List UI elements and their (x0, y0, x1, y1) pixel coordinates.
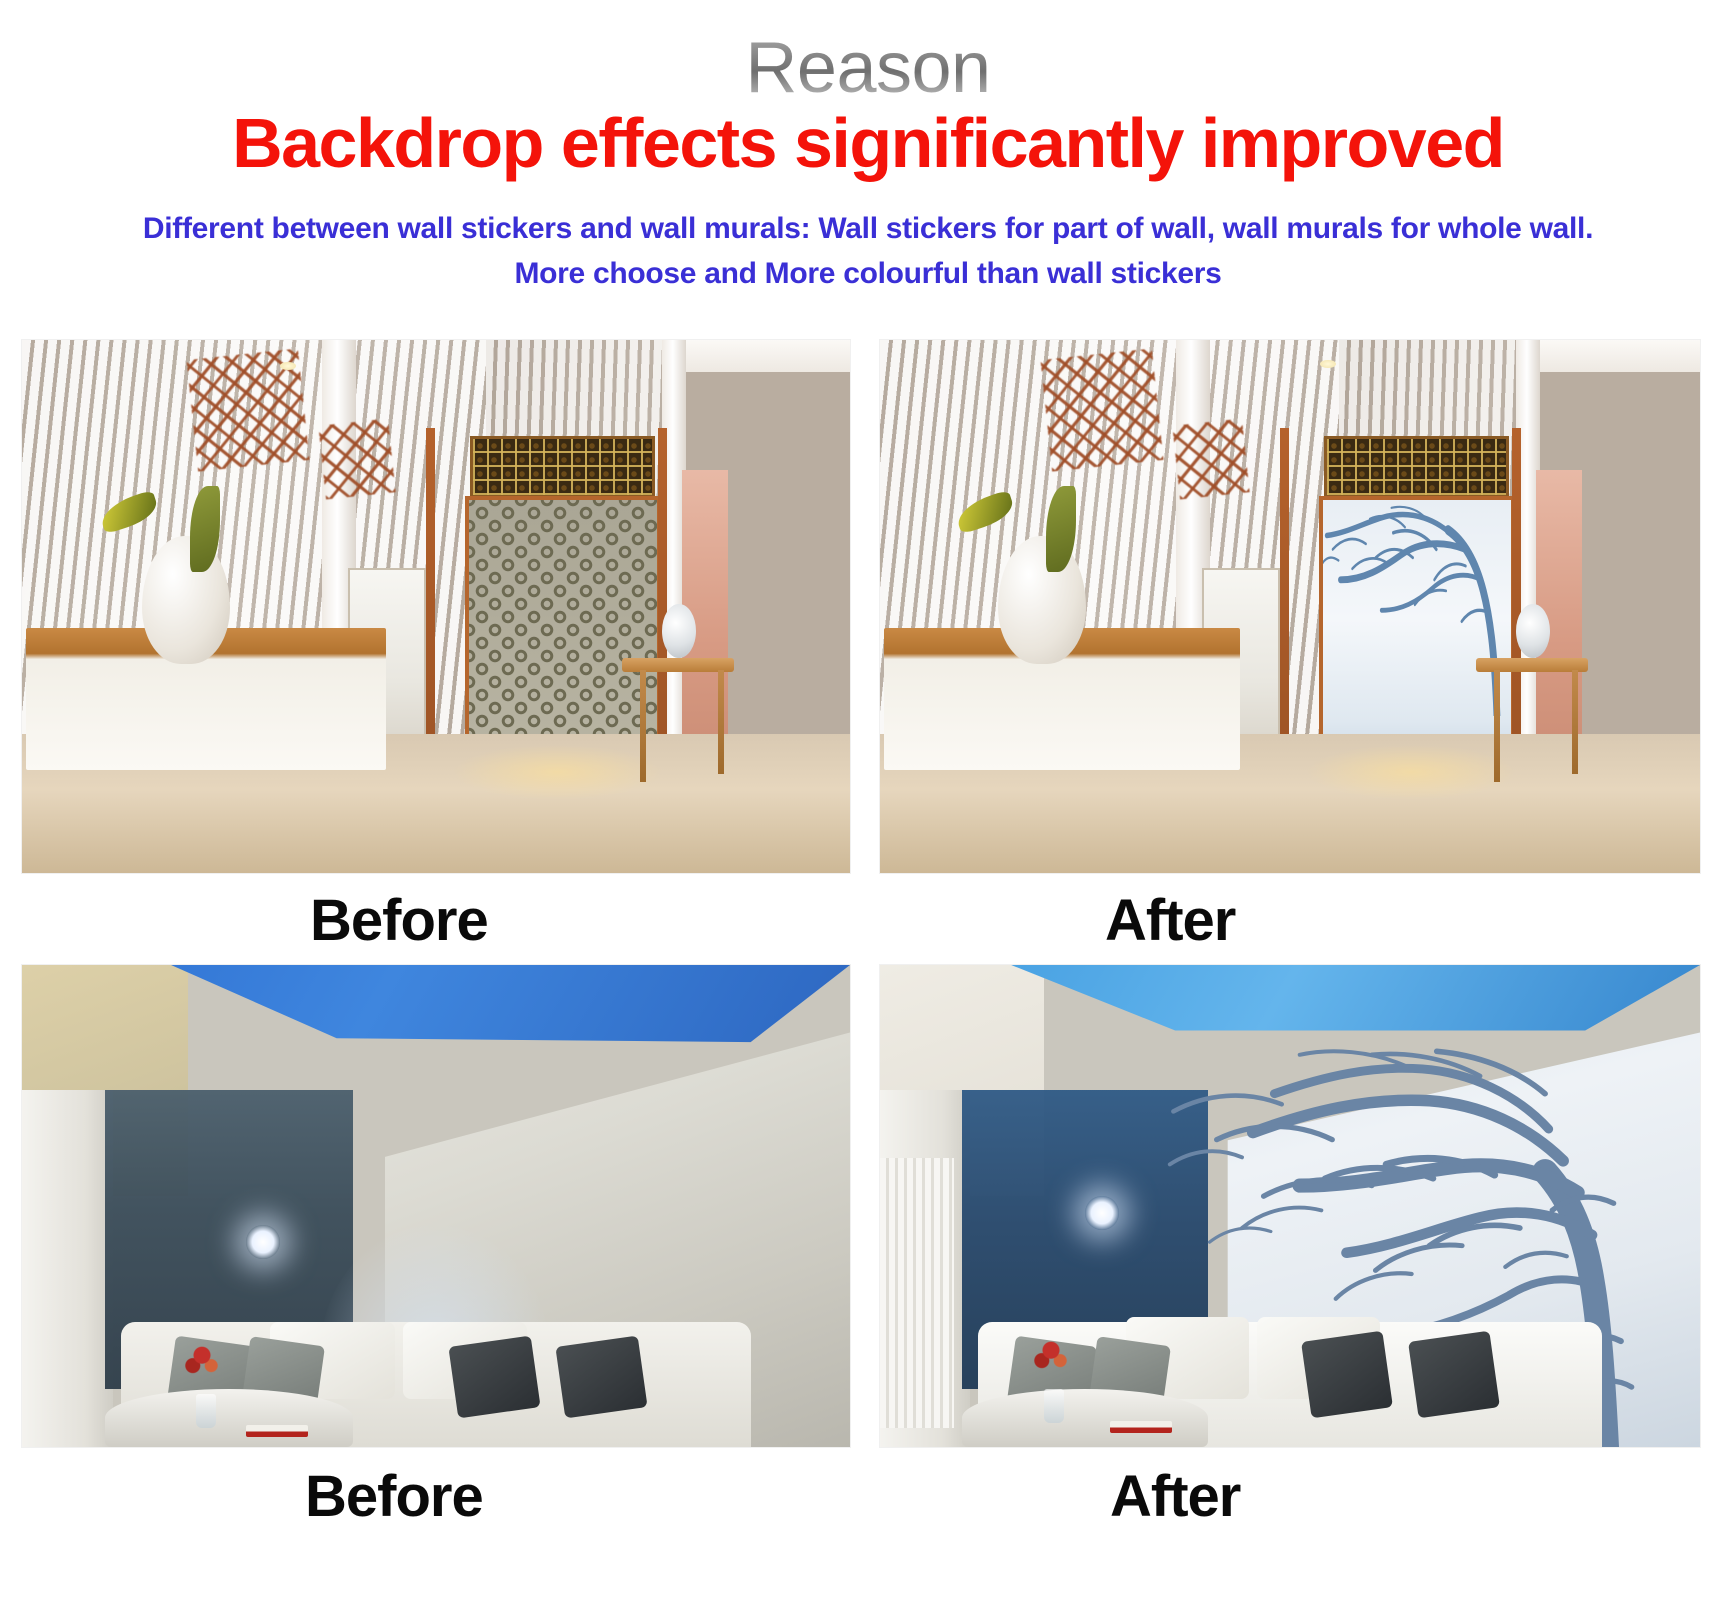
photo-living-before (22, 965, 850, 1447)
tree-mural-graphic (1319, 496, 1515, 716)
floor-light-glow (1306, 744, 1516, 800)
book-on-table (1110, 1421, 1172, 1433)
subtitle-line-1: Different between wall stickers and wall… (0, 207, 1736, 251)
decorative-transom (470, 436, 655, 498)
promo-page: Reason Backdrop effects significantly im… (0, 0, 1736, 1600)
living-scene-after (880, 965, 1700, 1447)
ceiling-spotlight (1320, 360, 1336, 368)
photo-hallway-after (880, 340, 1700, 873)
ceiling-spotlight (280, 362, 296, 370)
caption-living-after: After (1110, 1468, 1240, 1526)
comparison-grid: Before (0, 300, 1736, 1600)
comparison-image-hallway-after (880, 340, 1700, 873)
page-title: Backdrop effects significantly improved (0, 108, 1736, 178)
small-vase (1044, 1389, 1064, 1423)
comparison-image-living-after (880, 965, 1700, 1447)
white-vase (998, 536, 1086, 664)
coffee-table (962, 1389, 1208, 1447)
caption-hallway-before: Before (310, 892, 488, 950)
photo-living-after (880, 965, 1700, 1447)
comparison-image-living-before (22, 965, 850, 1447)
side-table-leg-right (718, 670, 724, 774)
small-vase (196, 1394, 216, 1428)
header: Reason Backdrop effects significantly im… (0, 0, 1736, 300)
dark-pillow-1 (1301, 1331, 1393, 1419)
table-lamp (662, 604, 696, 658)
flower-arrangement (179, 1337, 225, 1389)
caption-hallway-after: After (1105, 892, 1235, 950)
hallway-scene-before (22, 340, 850, 873)
lattice-decor-small (1172, 419, 1249, 500)
decorative-transom (1324, 436, 1509, 498)
book-on-table (246, 1425, 308, 1437)
lattice-decor-small (318, 419, 395, 500)
side-table-leg-right (1572, 670, 1578, 774)
side-table-leg-left (1494, 670, 1500, 782)
lattice-decor-large (1040, 348, 1163, 471)
living-scene-before (22, 965, 850, 1447)
ceiling-downlight (246, 1225, 280, 1259)
white-vase (142, 536, 230, 664)
eyebrow-heading: Reason (0, 32, 1736, 104)
caption-living-before: Before (305, 1468, 483, 1526)
dark-pillow-1 (448, 1336, 540, 1419)
dark-pillow-2 (556, 1336, 648, 1419)
hallway-scene-after (880, 340, 1700, 873)
floor-light-glow (452, 744, 662, 800)
photo-hallway-before (22, 340, 850, 873)
table-lamp (1516, 604, 1550, 658)
radiator (880, 1158, 954, 1428)
subtitle-line-2: More choose and More colourful than wall… (0, 252, 1736, 296)
comparison-image-hallway-before (22, 340, 850, 873)
dark-pillow-2 (1408, 1331, 1500, 1419)
flower-arrangement (1028, 1332, 1074, 1384)
white-column (22, 1090, 113, 1447)
side-table-leg-left (640, 670, 646, 782)
coffee-table (105, 1389, 353, 1447)
